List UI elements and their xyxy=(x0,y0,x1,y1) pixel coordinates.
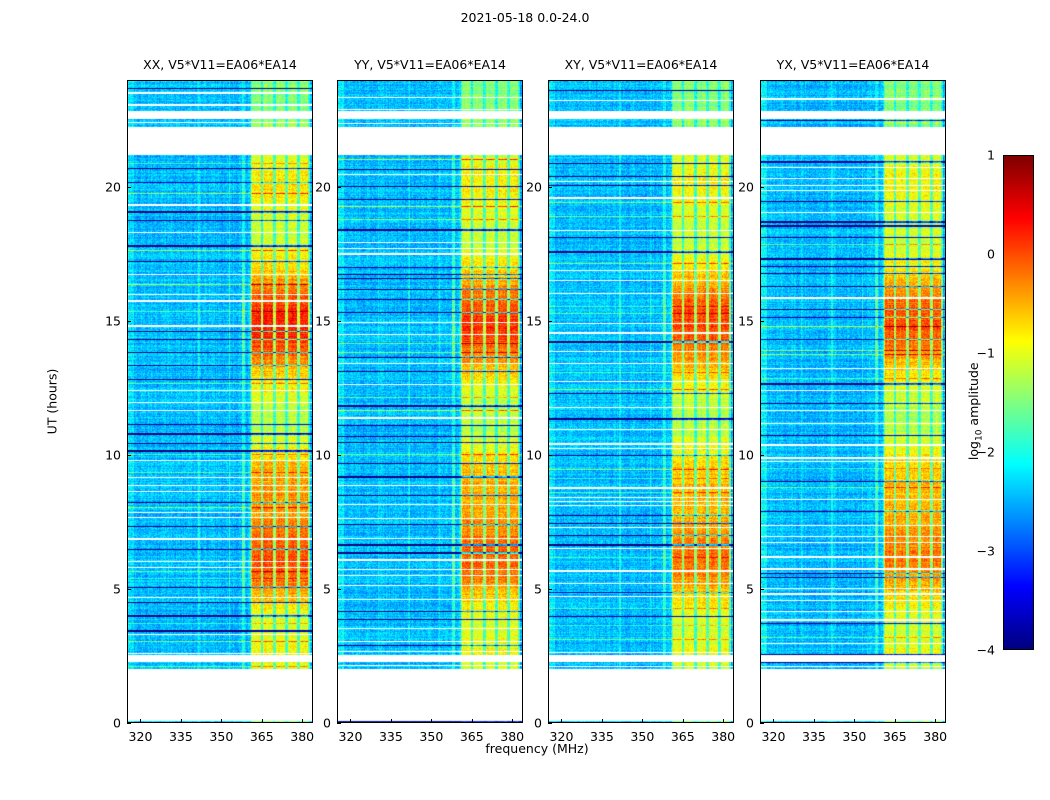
y-tick-mark xyxy=(548,589,552,590)
x-tick-label: 365 xyxy=(671,729,695,744)
y-tick-mark xyxy=(127,321,131,322)
x-tick-mark xyxy=(773,719,774,723)
y-tick-label: 15 xyxy=(726,314,754,329)
colorbar-tick-label: −4 xyxy=(963,643,995,658)
colorbar-tick-label: 1 xyxy=(963,148,995,163)
x-tick-mark xyxy=(262,719,263,723)
x-tick-mark xyxy=(602,719,603,723)
y-tick-label: 20 xyxy=(93,180,121,195)
waterfall-plot-xy[interactable] xyxy=(548,80,734,723)
y-tick-label: 0 xyxy=(303,716,331,731)
x-tick-mark xyxy=(561,719,562,723)
y-tick-label: 20 xyxy=(303,180,331,195)
x-tick-mark xyxy=(431,719,432,723)
y-tick-label: 0 xyxy=(93,716,121,731)
waterfall-plot-xx[interactable] xyxy=(127,80,313,723)
x-tick-mark xyxy=(221,719,222,723)
colorbar-label-prefix: log xyxy=(966,441,981,460)
x-axis-label: frequency (MHz) xyxy=(437,741,637,756)
y-tick-mark xyxy=(337,589,341,590)
colorbar-tick-label: 0 xyxy=(963,247,995,262)
x-tick-mark xyxy=(350,719,351,723)
x-tick-label: 320 xyxy=(129,729,153,744)
colorbar-gradient xyxy=(1004,156,1033,649)
y-tick-label: 5 xyxy=(726,582,754,597)
x-tick-label: 350 xyxy=(842,729,866,744)
y-tick-mark xyxy=(337,321,341,322)
y-tick-label: 5 xyxy=(93,582,121,597)
x-tick-mark xyxy=(854,719,855,723)
y-tick-mark xyxy=(760,455,764,456)
y-tick-mark xyxy=(127,455,131,456)
y-axis-label: UT (hours) xyxy=(45,342,60,462)
y-tick-mark xyxy=(548,455,552,456)
y-tick-mark xyxy=(760,589,764,590)
x-tick-label: 380 xyxy=(711,729,735,744)
y-tick-label: 10 xyxy=(93,448,121,463)
y-tick-label: 0 xyxy=(726,716,754,731)
waterfall-image xyxy=(761,81,946,723)
waterfall-image xyxy=(549,81,734,723)
panel-title-xy: XY, V5*V11=EA06*EA14 xyxy=(548,57,734,72)
y-tick-mark xyxy=(760,723,764,724)
x-tick-label: 320 xyxy=(339,729,363,744)
panel-title-yx: YX, V5*V11=EA06*EA14 xyxy=(760,57,946,72)
y-tick-mark xyxy=(127,723,131,724)
waterfall-plot-yx[interactable] xyxy=(760,80,946,723)
y-tick-label: 5 xyxy=(303,582,331,597)
waterfall-plot-yy[interactable] xyxy=(337,80,523,723)
x-tick-label: 350 xyxy=(209,729,233,744)
x-tick-label: 365 xyxy=(883,729,907,744)
colorbar[interactable] xyxy=(1003,155,1034,650)
x-tick-mark xyxy=(472,719,473,723)
x-tick-mark xyxy=(181,719,182,723)
x-tick-mark xyxy=(140,719,141,723)
y-tick-label: 10 xyxy=(726,448,754,463)
waterfall-image xyxy=(338,81,523,723)
colorbar-label-sub: 10 xyxy=(974,430,984,441)
y-tick-mark xyxy=(760,187,764,188)
y-tick-mark xyxy=(548,723,552,724)
x-tick-mark xyxy=(642,719,643,723)
x-tick-mark xyxy=(935,719,936,723)
y-tick-label: 15 xyxy=(93,314,121,329)
x-tick-label: 380 xyxy=(923,729,947,744)
figure-suptitle: 2021-05-18 0.0-24.0 xyxy=(0,10,1050,25)
x-tick-mark xyxy=(895,719,896,723)
y-tick-mark xyxy=(760,321,764,322)
waterfall-image xyxy=(128,81,313,723)
x-tick-label: 380 xyxy=(290,729,314,744)
y-tick-label: 10 xyxy=(514,448,542,463)
y-tick-mark xyxy=(548,321,552,322)
y-tick-label: 20 xyxy=(514,180,542,195)
x-tick-label: 365 xyxy=(250,729,274,744)
y-tick-mark xyxy=(337,455,341,456)
y-tick-label: 15 xyxy=(303,314,331,329)
x-tick-label: 335 xyxy=(802,729,826,744)
y-tick-label: 15 xyxy=(514,314,542,329)
x-tick-mark xyxy=(391,719,392,723)
panel-title-xx: XX, V5*V11=EA06*EA14 xyxy=(127,57,313,72)
y-tick-mark xyxy=(337,187,341,188)
x-tick-mark xyxy=(814,719,815,723)
x-tick-label: 335 xyxy=(379,729,403,744)
colorbar-tick-label: −3 xyxy=(963,544,995,559)
x-tick-mark xyxy=(723,719,724,723)
y-tick-label: 10 xyxy=(303,448,331,463)
y-tick-mark xyxy=(337,723,341,724)
x-tick-label: 335 xyxy=(169,729,193,744)
panel-title-yy: YY, V5*V11=EA06*EA14 xyxy=(337,57,523,72)
colorbar-label-suffix: amplitude xyxy=(966,362,981,429)
y-tick-label: 5 xyxy=(514,582,542,597)
y-tick-label: 20 xyxy=(726,180,754,195)
y-tick-label: 0 xyxy=(514,716,542,731)
x-tick-mark xyxy=(683,719,684,723)
y-tick-mark xyxy=(127,589,131,590)
x-tick-label: 320 xyxy=(762,729,786,744)
y-tick-mark xyxy=(548,187,552,188)
y-tick-mark xyxy=(127,187,131,188)
colorbar-label: log10 amplitude xyxy=(966,331,985,491)
